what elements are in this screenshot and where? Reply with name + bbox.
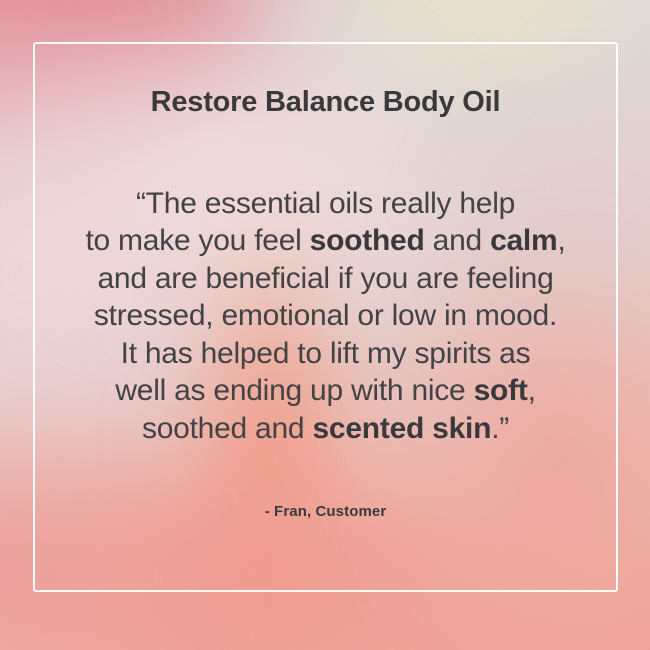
quote-emphasis: soft: [474, 374, 528, 407]
quote-text: and: [425, 224, 490, 257]
quote-attribution: - Fran, Customer: [265, 447, 387, 520]
quote-line: and are beneficial if you are feeling: [97, 262, 553, 295]
quote-text: “The essential oils really help: [136, 187, 515, 220]
quote-text: .”: [491, 412, 509, 445]
card-content: Restore Balance Body Oil “The essential …: [33, 42, 618, 592]
quote-text: It has helped to lift my spirits as: [121, 337, 531, 370]
product-title: Restore Balance Body Oil: [151, 42, 501, 119]
quote-text: and are beneficial if you are feeling: [97, 262, 553, 295]
testimonial-quote: “The essential oils really helpto make y…: [56, 119, 596, 448]
quote-line: well as ending up with nice soft,: [115, 374, 535, 407]
quote-emphasis: calm: [490, 224, 557, 257]
quote-text: ,: [557, 224, 565, 257]
quote-line: stressed, emotional or low in mood.: [94, 299, 557, 332]
quote-text: to make you feel: [85, 224, 309, 257]
quote-emphasis: scented skin: [312, 412, 491, 445]
testimonial-card: Restore Balance Body Oil “The essential …: [0, 0, 650, 650]
quote-text: well as ending up with nice: [115, 374, 473, 407]
quote-line: soothed and scented skin.”: [142, 412, 509, 445]
quote-line: “The essential oils really help: [136, 187, 515, 220]
quote-emphasis: soothed: [310, 224, 425, 257]
quote-line: It has helped to lift my spirits as: [121, 337, 531, 370]
quote-line: to make you feel soothed and calm,: [85, 224, 565, 257]
quote-text: stressed, emotional or low in mood.: [94, 299, 557, 332]
quote-text: ,: [528, 374, 536, 407]
quote-text: soothed and: [142, 412, 312, 445]
